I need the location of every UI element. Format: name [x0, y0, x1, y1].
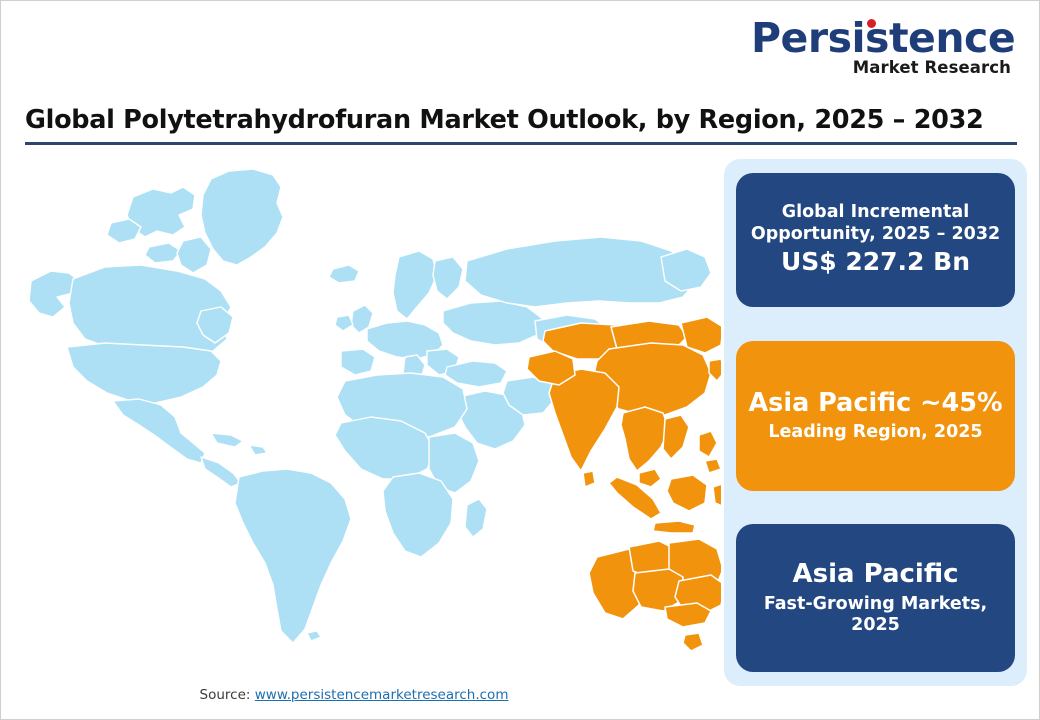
region-arctic-isle-b: [145, 243, 181, 263]
region-central-america: [201, 457, 241, 487]
card-leading-subtitle: Leading Region, 2025: [768, 422, 982, 443]
card-opportunity-label-line2: Opportunity, 2025 – 2032: [751, 224, 1000, 245]
highlight-philippines-s: [705, 459, 721, 473]
brand-logo: Persistence Market Research: [751, 17, 1011, 77]
region-scandinavia: [393, 251, 437, 319]
region-east-europe: [443, 301, 543, 345]
region-madagascar: [465, 499, 487, 537]
infographic-canvas: Persistence Market Research Global Polyt…: [0, 0, 1040, 720]
card-fast-subtitle-line2: 2025: [851, 615, 900, 636]
region-usa: [67, 343, 221, 403]
region-southern-africa: [383, 473, 453, 557]
region-falklands: [307, 631, 321, 641]
region-ireland: [335, 315, 353, 331]
highlight-indochina: [621, 407, 669, 471]
source-attribution: Source: www.persistencemarketresearch.co…: [1, 687, 707, 703]
region-greenland: [201, 169, 283, 265]
card-opportunity-label-line1: Global Incremental: [782, 202, 969, 223]
highlight-borneo: [667, 475, 707, 511]
region-finland: [433, 257, 463, 299]
highlight-australia-vic: [665, 603, 711, 627]
highlight-tasmania: [683, 633, 703, 651]
card-fast-growing-markets: Asia Pacific Fast-Growing Markets, 2025: [736, 524, 1015, 672]
title-section: Global Polytetrahydrofuran Market Outloo…: [25, 105, 1017, 145]
region-mexico: [113, 399, 205, 463]
highlight-australia-sa: [633, 569, 683, 611]
region-hispaniola: [249, 445, 267, 455]
map-highlight-asia-pacific: [527, 317, 721, 651]
logo-red-dot-icon: [867, 19, 876, 28]
highlight-java: [653, 521, 695, 533]
region-iceland: [329, 265, 359, 283]
world-map-container: [15, 161, 721, 661]
highlight-malaysia: [639, 469, 661, 487]
region-baffin: [177, 237, 211, 273]
highlight-sri-lanka: [583, 471, 595, 487]
region-russia: [465, 237, 695, 307]
card-fast-value: Asia Pacific: [792, 559, 958, 591]
highlight-philippines: [699, 431, 717, 457]
card-global-incremental-opportunity: Global Incremental Opportunity, 2025 – 2…: [736, 173, 1015, 307]
brand-wordmark: Persistence: [751, 17, 1015, 60]
highlight-sulawesi: [713, 483, 721, 507]
card-leading-value: Asia Pacific ~45%: [748, 388, 1002, 419]
highlight-korea: [709, 359, 721, 381]
card-leading-region: Asia Pacific ~45% Leading Region, 2025: [736, 341, 1015, 491]
highlight-ne-china: [681, 317, 721, 353]
world-map-svg: [15, 161, 721, 661]
title-divider: [25, 142, 1017, 145]
source-url-link[interactable]: www.persistencemarketresearch.com: [255, 687, 509, 703]
highlights-panel: Global Incremental Opportunity, 2025 – 2…: [724, 159, 1027, 686]
brand-name-text: Persistence: [751, 14, 1015, 62]
region-south-america: [235, 469, 351, 643]
card-fast-subtitle-line1: Fast-Growing Markets,: [764, 594, 987, 615]
highlight-vietnam: [663, 415, 689, 459]
region-cuba: [211, 433, 243, 447]
page-title: Global Polytetrahydrofuran Market Outloo…: [25, 105, 1017, 135]
source-prefix-label: Source:: [200, 687, 255, 703]
region-iberia: [341, 349, 375, 375]
card-opportunity-value: US$ 227.2 Bn: [781, 247, 970, 278]
